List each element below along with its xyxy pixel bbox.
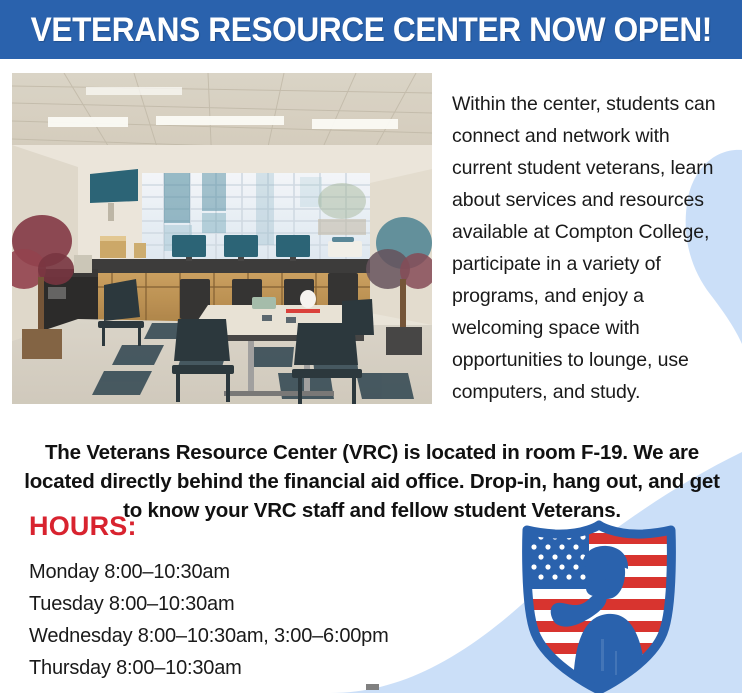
hours-list-item: Wednesday 8:00–10:30am, 3:00–6:00pm [29,620,389,652]
header-banner: VETERANS RESOURCE CENTER NOW OPEN! [0,0,742,59]
veterans-resource-center-flyer: VETERANS RESOURCE CENTER NOW OPEN! [0,0,742,693]
hours-block: HOURS: Monday 8:00–10:30am Tuesday 8:00–… [29,513,389,684]
veteran-shield-flag-icon [515,519,683,693]
intro-paragraph: Within the center, students can connect … [452,88,730,408]
hours-list: Monday 8:00–10:30am Tuesday 8:00–10:30am… [29,556,389,684]
hours-heading: HOURS: [29,513,389,540]
bottom-cutoff-fragment [366,684,379,690]
banner-title: VETERANS RESOURCE CENTER NOW OPEN! [30,13,711,47]
room-photo [12,73,432,404]
hours-list-item: Thursday 8:00–10:30am [29,652,389,684]
hours-list-item: Tuesday 8:00–10:30am [29,588,389,620]
hours-list-item: Monday 8:00–10:30am [29,556,389,588]
